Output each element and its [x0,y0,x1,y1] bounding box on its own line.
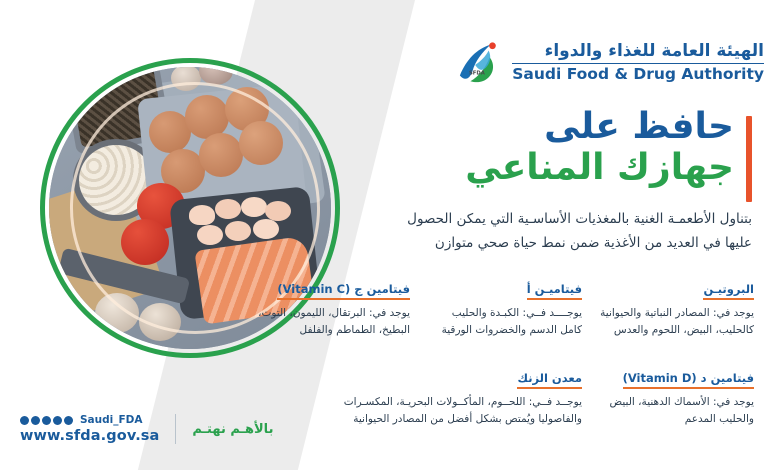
nutrient-body-protein-line-1: يوجد في: المصادر النباتية والحيوانية [594,305,754,322]
logo-divider-rule [512,63,764,64]
headline-accent-bar [746,116,752,202]
logo-text: الهيئة العامة للغذاء والدواء Saudi Food … [512,43,764,82]
footer-divider [175,414,176,444]
nutrient-card-vitamin-d: فيتامين د (Vitamin D) يوجد في: الأسماك ا… [588,367,760,429]
footer: Saudi_FDA www.sfda.gov.sa بالأهـم نهتـم [20,414,273,444]
social-icons-row: Saudi_FDA [20,414,159,426]
instagram-icon[interactable] [42,416,51,425]
twitter-icon[interactable] [20,416,29,425]
poster-canvas: الهيئة العامة للغذاء والدواء Saudi Food … [0,0,780,470]
nutrient-row-bottom: فيتامين د (Vitamin D) يوجد في: الأسماك ا… [250,367,760,429]
nutrient-card-vitamin-a: فيتاميـن أ يوجــــد فــي: الكبـدة والحلي… [416,278,588,340]
nutrient-card-vitamin-c: فيتامين ج (Vitamin C) يوجد في: البرتقال،… [250,278,416,340]
nutrient-title-vitamin-a: فيتاميـن أ [527,282,582,300]
subheading-line-1: بتناول الأطعمـة الغنية بالمغذيات الأساسـ… [322,208,752,232]
nutrient-body-vitamin-a-line-1: يوجــــد فــي: الكبـدة والحليب [422,305,582,322]
nutrient-body-zinc-line-1: يوجــد فــي: اللحــوم، المأكــولات البحر… [256,394,582,411]
youtube-icon[interactable] [31,416,40,425]
nutrient-body-protein: يوجد في: المصادر النباتية والحيوانية كال… [594,305,754,340]
website-url[interactable]: www.sfda.gov.sa [20,428,159,444]
nutrient-body-vitamin-c: يوجد في: البرتقال، الليمون، التوت، البطي… [256,305,410,340]
nutrient-body-vitamin-c-line-1: يوجد في: البرتقال، الليمون، التوت، [256,305,410,322]
social-handle: Saudi_FDA [80,414,143,426]
nutrient-body-vitamin-c-line-2: البطيخ، الطماطم والفلفل [256,322,410,339]
nutrient-body-vitamin-d-line-2: والحليب المدعم [594,411,754,428]
nutrient-body-vitamin-d-line-1: يوجد في: الأسماك الدهنية، البيض [594,394,754,411]
logo-english-name: Saudi Food & Drug Authority [512,66,764,82]
nutrient-title-vitamin-c: فيتامين ج (Vitamin C) [277,282,410,300]
subheading: بتناول الأطعمـة الغنية بالمغذيات الأساسـ… [322,208,752,255]
logo-mark-text: SFDA [469,71,486,77]
sfda-logo-mark-icon: SFDA [456,40,504,86]
nutrient-title-vitamin-d: فيتامين د (Vitamin D) [623,371,754,389]
nutrient-card-protein: البروتيـن يوجد في: المصادر النباتية والح… [588,278,760,340]
headline-line-1: حافظ على [465,108,734,147]
nutrient-row-top: البروتيـن يوجد في: المصادر النباتية والح… [250,278,760,340]
headline: حافظ على جهازك المناعي [465,108,752,188]
snapchat-icon[interactable] [53,416,62,425]
footer-contact-block: Saudi_FDA www.sfda.gov.sa [20,414,159,444]
nutrient-body-zinc-line-2: والفاصوليا ويُمتص بشكل أفضل من المصادر ا… [256,411,582,428]
nutrient-title-zinc: معدن الزنك [517,371,582,389]
headline-line-2: جهازك المناعي [465,149,734,188]
nutrient-body-vitamin-d: يوجد في: الأسماك الدهنية، البيض والحليب … [594,394,754,429]
nutrient-body-protein-line-2: كالحليب، البيض، اللحوم والعدس [594,322,754,339]
sfda-logo: الهيئة العامة للغذاء والدواء Saudi Food … [456,40,764,86]
nutrient-body-vitamin-a-line-2: كامل الدسم والخضروات الورقية [422,322,582,339]
subheading-line-2: عليها في العديد من الأغذية ضمن نمط حياة … [322,232,752,256]
nutrient-body-zinc: يوجــد فــي: اللحــوم، المأكــولات البحر… [256,394,582,429]
nutrient-grid: البروتيـن يوجد في: المصادر النباتية والح… [250,278,760,428]
logo-arabic-name: الهيئة العامة للغذاء والدواء [512,43,764,61]
facebook-icon[interactable] [64,416,73,425]
nutrient-card-zinc: معدن الزنك يوجــد فــي: اللحــوم، المأكـ… [250,367,588,429]
nutrient-title-protein: البروتيـن [703,282,754,300]
tagline: بالأهـم نهتـم [192,422,273,437]
nutrient-body-vitamin-a: يوجــــد فــي: الكبـدة والحليب كامل الدس… [422,305,582,340]
